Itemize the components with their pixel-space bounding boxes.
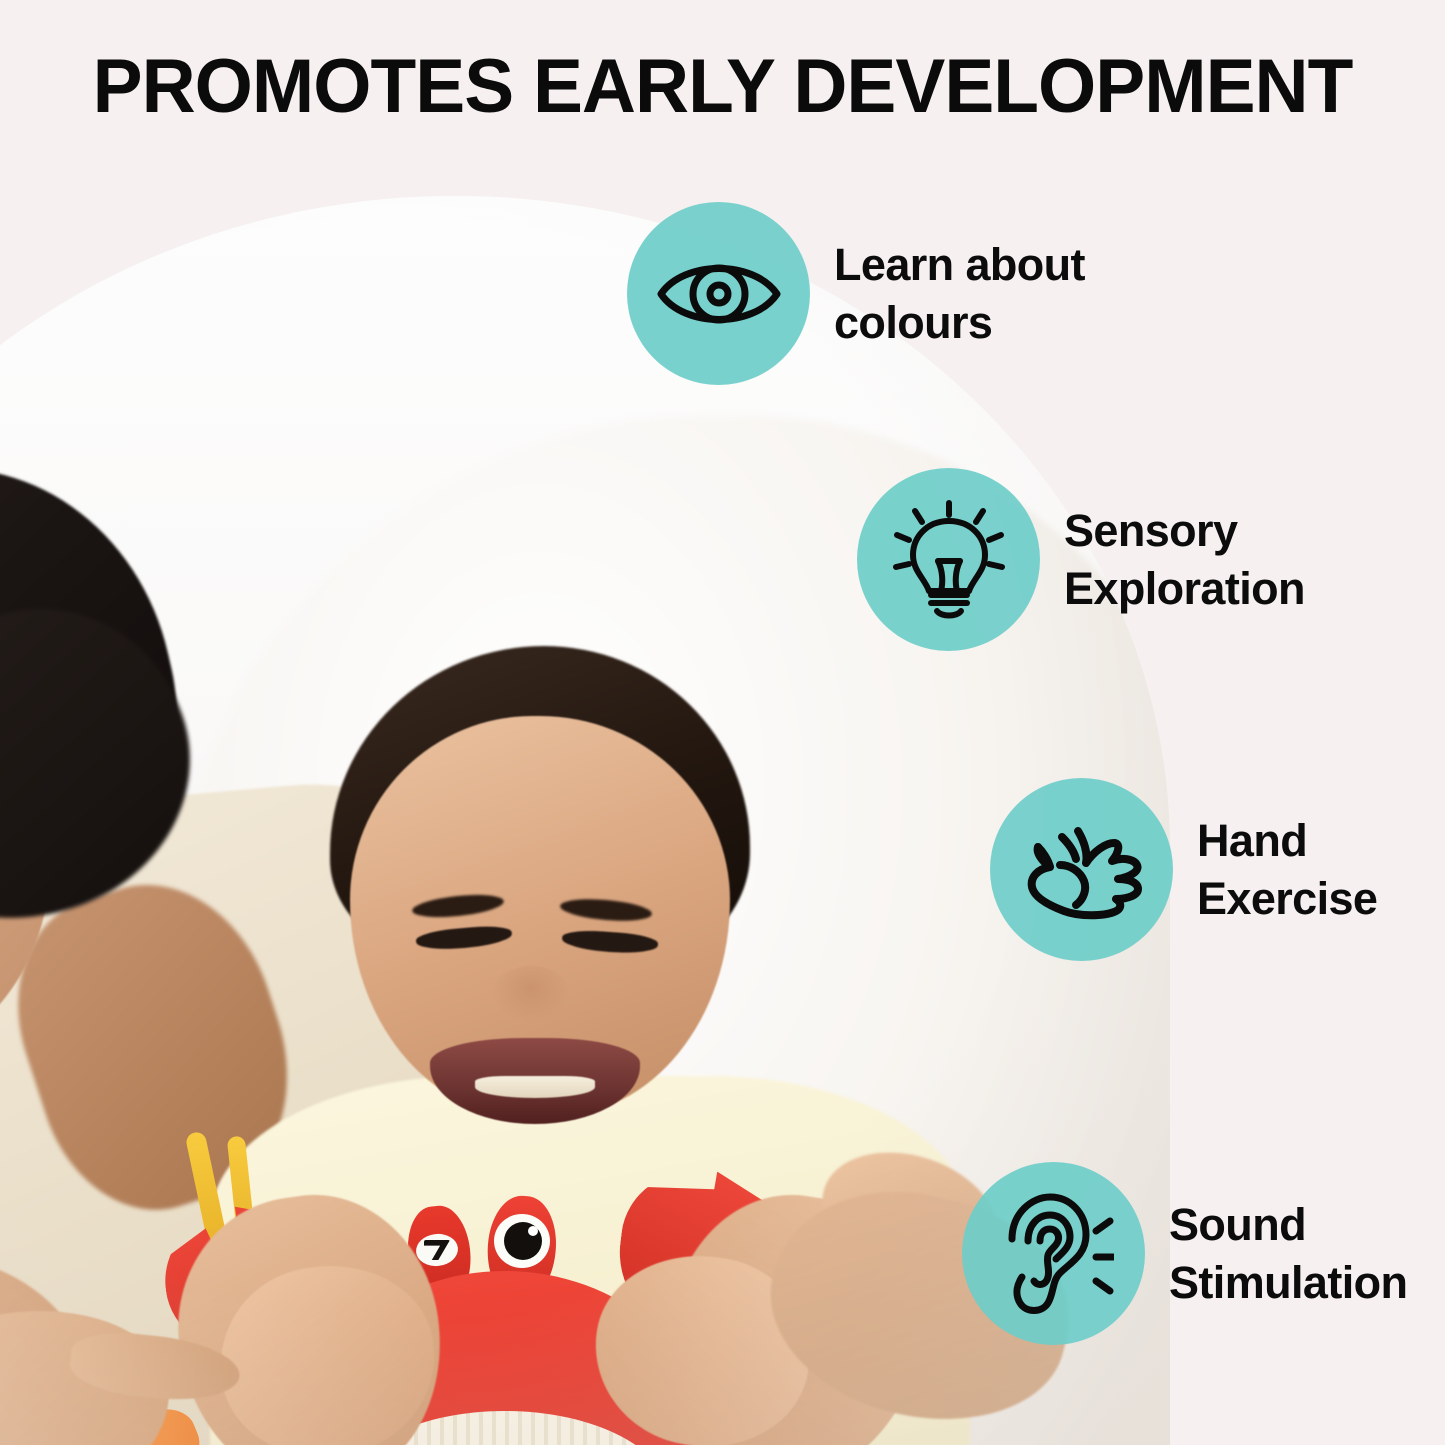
hand-icon — [1018, 817, 1146, 923]
feature-label: Sound Stimulation — [1169, 1196, 1407, 1312]
ear-icon — [994, 1191, 1114, 1317]
eye-icon — [656, 248, 782, 340]
baby-teeth — [475, 1076, 595, 1098]
feature-label: Sensory Exploration — [1064, 502, 1305, 618]
feature-icon-badge — [857, 468, 1040, 651]
baby-nose — [492, 966, 570, 1022]
feature-label: Learn about colours — [834, 236, 1085, 352]
feature-label: Hand Exercise — [1197, 812, 1377, 928]
feature-item-hand-exercise[interactable]: Hand Exercise — [990, 778, 1377, 961]
page-title: PROMOTES EARLY DEVELOPMENT — [11, 46, 1434, 128]
feature-item-learn-about-colours[interactable]: Learn about colours — [627, 202, 1085, 385]
crab-eye-glint — [528, 1226, 538, 1236]
infographic-canvas: PROMOTES EARLY DEVELOPMENT Learn about c… — [0, 0, 1445, 1445]
feature-item-sound-stimulation[interactable]: Sound Stimulation — [962, 1162, 1407, 1345]
lightbulb-icon — [893, 499, 1005, 621]
feature-item-sensory-exploration[interactable]: Sensory Exploration — [857, 468, 1305, 651]
feature-icon-badge — [962, 1162, 1145, 1345]
feature-icon-badge — [627, 202, 810, 385]
feature-icon-badge — [990, 778, 1173, 961]
